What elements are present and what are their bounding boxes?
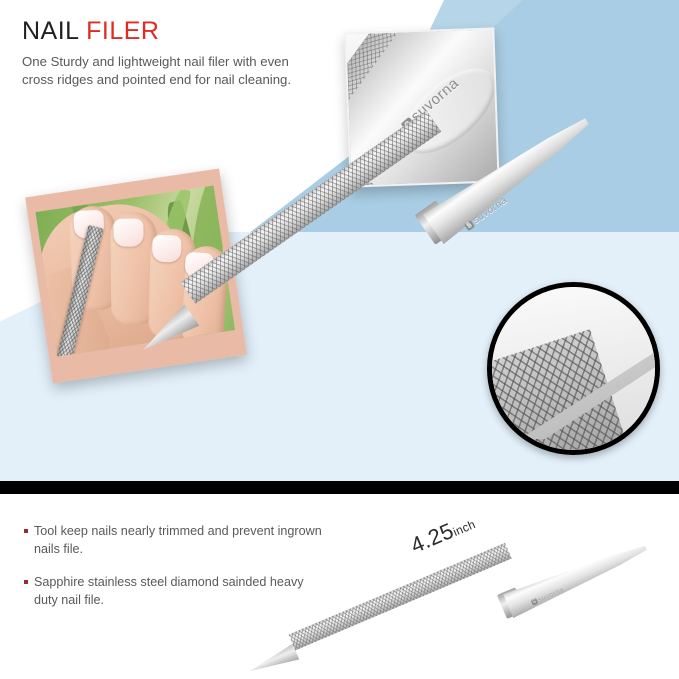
hand-photo-inset	[25, 169, 247, 384]
filer-handle	[502, 534, 652, 620]
fingernail-shape	[184, 252, 214, 280]
bullet-marker-icon	[24, 529, 28, 533]
product-infographic: NAIL FILER One Sturdy and lightweight na…	[0, 0, 679, 679]
product-description: One Sturdy and lightweight nail filer wi…	[22, 53, 322, 90]
logo-closeup-image: Ssuvorna	[346, 29, 497, 185]
title-word-accent: FILER	[86, 17, 159, 45]
hand-photo-image	[35, 186, 235, 357]
fingernail-shape	[152, 235, 182, 263]
measurement-value: 4.25	[407, 518, 457, 558]
bottom-nail-filer: Ssuvorna 4.25inch	[270, 494, 679, 679]
header-block: NAIL FILER One Sturdy and lightweight na…	[22, 18, 322, 90]
title-word-primary: NAIL	[22, 17, 79, 45]
filer-pointed-tip	[247, 644, 300, 679]
filer-blade-textured	[289, 543, 512, 650]
measurement-unit: inch	[451, 517, 477, 539]
section-divider	[0, 481, 679, 494]
magnifier-detail-circle	[487, 282, 660, 455]
top-panel: NAIL FILER One Sturdy and lightweight na…	[0, 0, 679, 481]
fingernail-shape	[113, 219, 143, 247]
bullet-marker-icon	[24, 580, 28, 584]
bottom-panel: Tool keep nails nearly trimmed and preve…	[0, 494, 679, 679]
page-title: NAIL FILER	[22, 18, 322, 46]
measurement-label: 4.25inch	[407, 509, 479, 559]
logo-closeup-inset: Ssuvorna	[344, 27, 499, 187]
magnifier-content	[492, 287, 655, 450]
